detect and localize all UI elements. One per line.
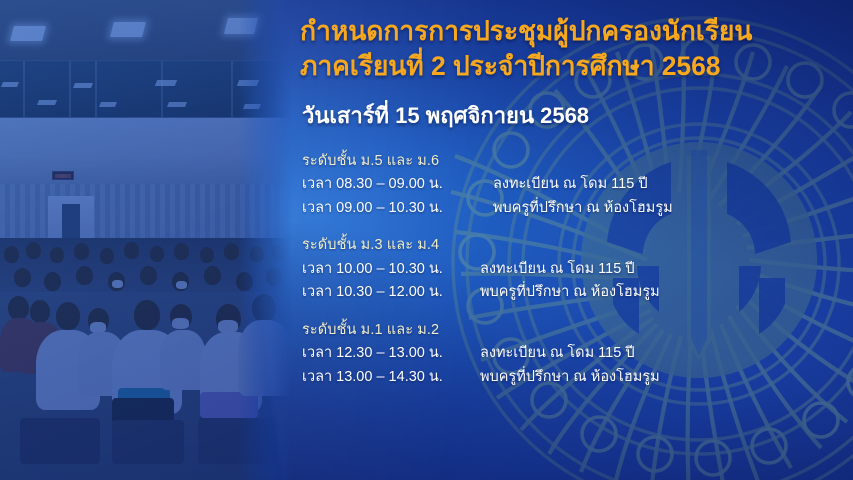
schedule-place: ลงทะเบียน ณ โดม 115 ปี bbox=[480, 258, 635, 281]
title-line-1: กำหนดการการประชุมผู้ปกครองนักเรียน bbox=[300, 14, 840, 49]
schedule-group-m1-m2: ระดับชั้น ม.1 และ ม.2 เวลา 12.30 – 13.00… bbox=[302, 319, 847, 389]
group-heading: ระดับชั้น ม.5 และ ม.6 bbox=[302, 150, 847, 173]
schedule-place: พบครูที่ปรึกษา ณ ห้องโฮมรูม bbox=[480, 197, 673, 220]
schedule-place: พบครูที่ปรึกษา ณ ห้องโฮมรูม bbox=[480, 281, 660, 304]
schedule-row: เวลา 10.00 – 10.30 น. ลงทะเบียน ณ โดม 11… bbox=[302, 258, 847, 281]
schedule-time: เวลา 12.30 – 13.00 น. bbox=[302, 342, 480, 365]
schedule-list: ระดับชั้น ม.5 และ ม.6 เวลา 08.30 – 09.00… bbox=[302, 150, 847, 389]
schedule-row: เวลา 09.00 – 10.30 น. พบครูที่ปรึกษา ณ ห… bbox=[302, 197, 847, 220]
schedule-row: เวลา 08.30 – 09.00 น. ลงทะเบียน ณ โดม 11… bbox=[302, 173, 847, 196]
schedule-place: ลงทะเบียน ณ โดม 115 ปี bbox=[480, 173, 648, 196]
schedule-place: ลงทะเบียน ณ โดม 115 ปี bbox=[480, 342, 635, 365]
page-title: กำหนดการการประชุมผู้ปกครองนักเรียน ภาคเร… bbox=[300, 14, 840, 84]
event-date: วันเสาร์ที่ 15 พฤศจิกายน 2568 bbox=[302, 103, 589, 129]
poster-canvas: กำหนดการการประชุมผู้ปกครองนักเรียน ภาคเร… bbox=[0, 0, 853, 480]
auditorium-audience-photo-icon bbox=[0, 0, 292, 480]
schedule-group-m3-m4: ระดับชั้น ม.3 และ ม.4 เวลา 10.00 – 10.30… bbox=[302, 234, 847, 304]
schedule-time: เวลา 09.00 – 10.30 น. bbox=[302, 197, 480, 220]
schedule-place: พบครูที่ปรึกษา ณ ห้องโฮมรูม bbox=[480, 366, 660, 389]
group-heading: ระดับชั้น ม.3 และ ม.4 bbox=[302, 234, 847, 257]
schedule-time: เวลา 10.30 – 12.00 น. bbox=[302, 281, 480, 304]
schedule-time: เวลา 08.30 – 09.00 น. bbox=[302, 173, 480, 196]
schedule-row: เวลา 13.00 – 14.30 น. พบครูที่ปรึกษา ณ ห… bbox=[302, 366, 847, 389]
schedule-group-m5-m6: ระดับชั้น ม.5 และ ม.6 เวลา 08.30 – 09.00… bbox=[302, 150, 847, 220]
group-heading: ระดับชั้น ม.1 และ ม.2 bbox=[302, 319, 847, 342]
schedule-time: เวลา 10.00 – 10.30 น. bbox=[302, 258, 480, 281]
announcement-content: กำหนดการการประชุมผู้ปกครองนักเรียน ภาคเร… bbox=[300, 0, 853, 480]
title-line-2: ภาคเรียนที่ 2 ประจำปีการศึกษา 2568 bbox=[300, 49, 840, 84]
schedule-row: เวลา 10.30 – 12.00 น. พบครูที่ปรึกษา ณ ห… bbox=[302, 281, 847, 304]
schedule-row: เวลา 12.30 – 13.00 น. ลงทะเบียน ณ โดม 11… bbox=[302, 342, 847, 365]
schedule-time: เวลา 13.00 – 14.30 น. bbox=[302, 366, 480, 389]
